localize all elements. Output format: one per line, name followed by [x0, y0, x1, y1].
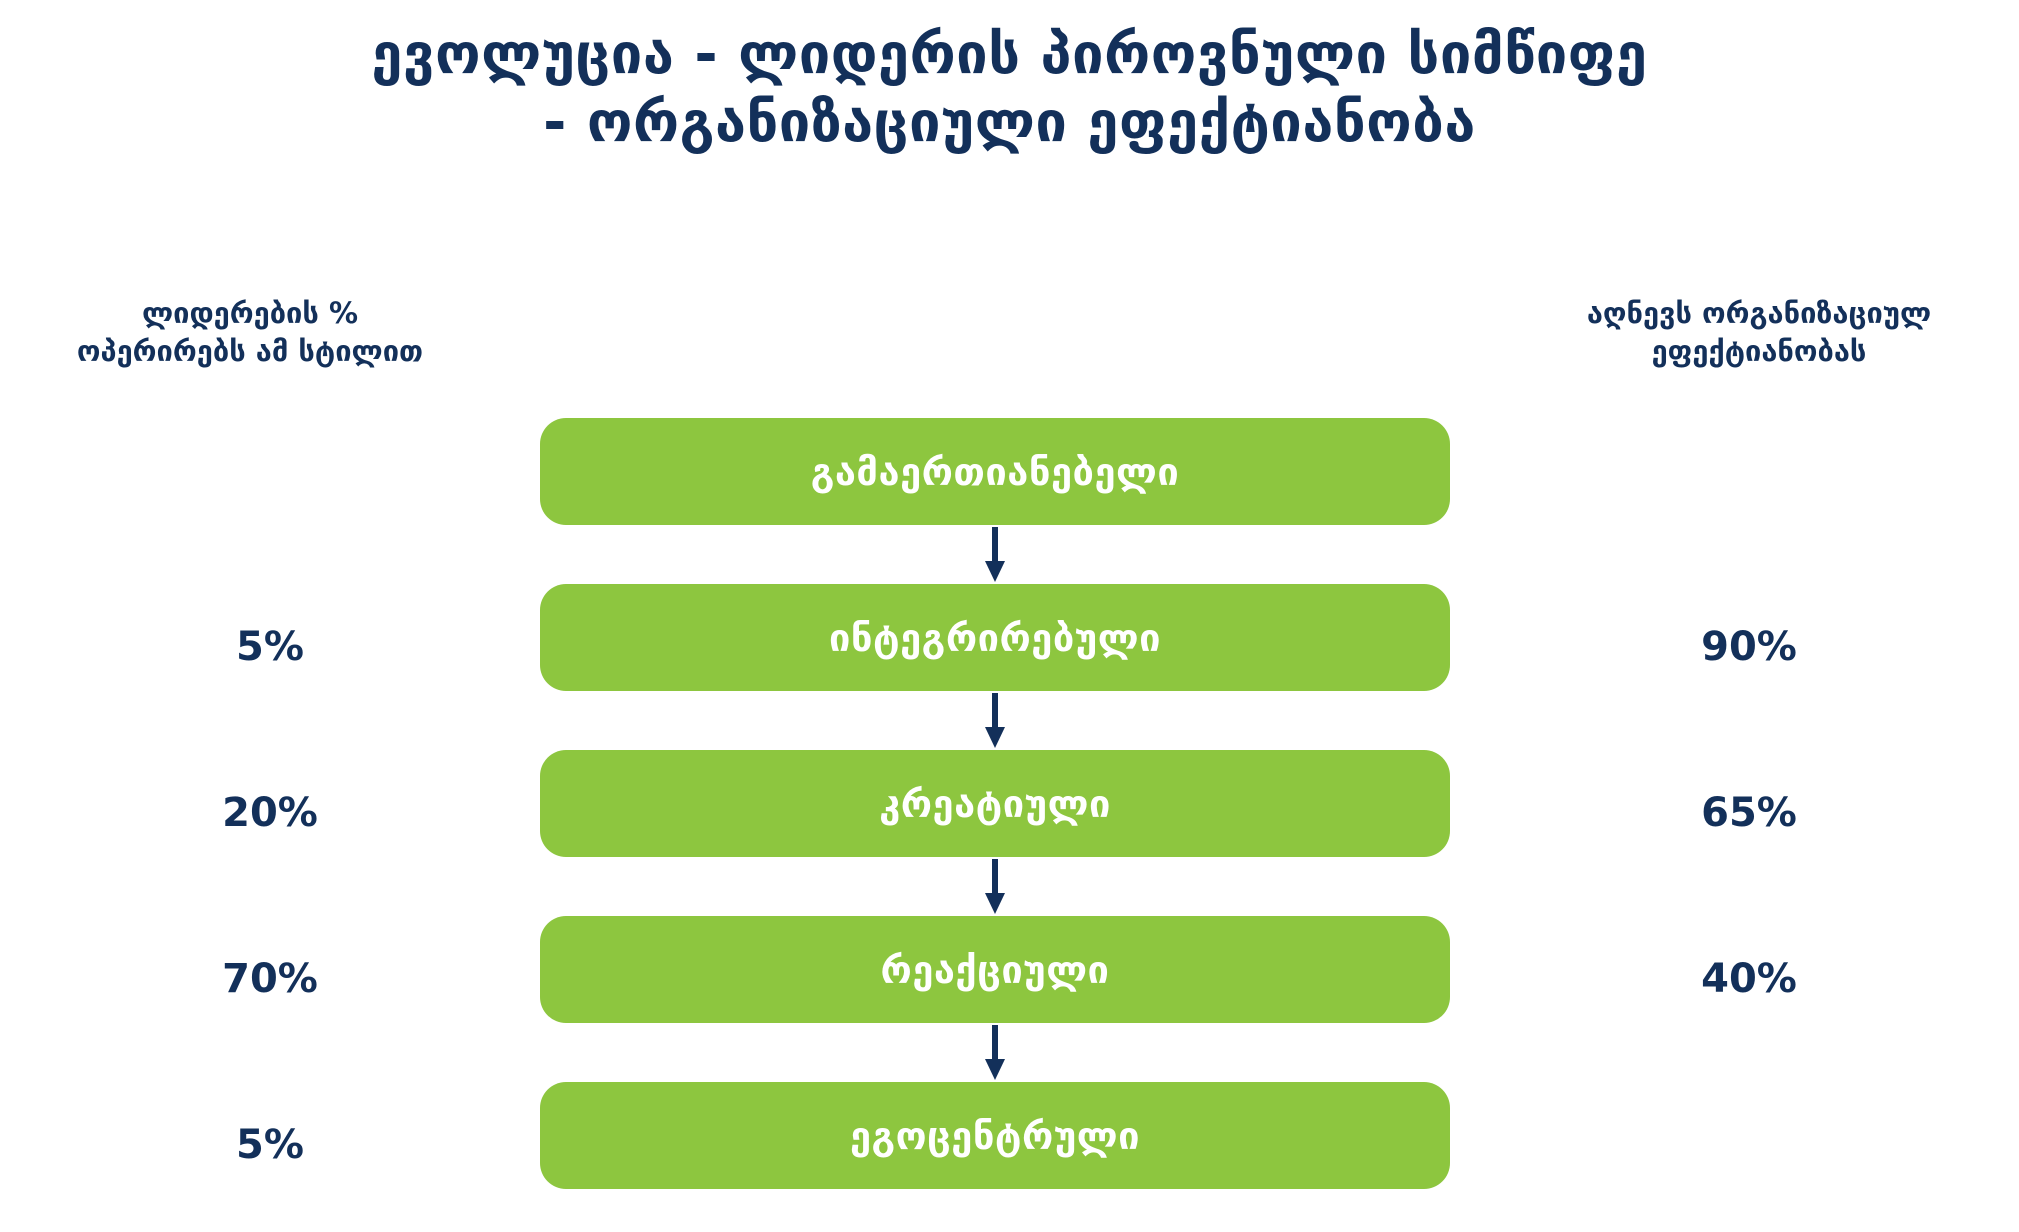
flow-arrow-4	[540, 1023, 1450, 1082]
flow-node-label: გამაერთიანებელი	[811, 453, 1180, 491]
flow-node-egocentric[interactable]: ეგოცენტრული	[540, 1082, 1450, 1189]
right-column-header: აღნევს ორგანიზაციულ ეფექტიანობას	[1519, 294, 1999, 371]
arrow-down-icon	[982, 691, 1008, 750]
page-title-line-1: ევოლუცია - ლიდერის პიროვნული სიმწიფე	[0, 22, 2019, 88]
arrow-down-icon	[982, 857, 1008, 916]
arrow-down-icon	[982, 525, 1008, 584]
arrow-down-icon	[982, 1023, 1008, 1082]
left-percent-egocentric: 5%	[110, 1125, 430, 1165]
flow-node-integrated[interactable]: ინტეგრირებული	[540, 584, 1450, 691]
left-percent-integrated: 5%	[110, 627, 430, 667]
left-percent-reactive: 70%	[110, 959, 430, 999]
flow-node-label: კრეატიული	[879, 785, 1111, 823]
flow-row: ეგოცენტრული	[540, 1082, 1450, 1189]
flow-node-label: რეაქციული	[881, 951, 1110, 989]
flow-row: კრეატიული	[540, 750, 1450, 857]
left-column-header-line-1: ლიდერების %	[20, 294, 480, 332]
left-column-header-line-2: ოპერირებს ამ სტილით	[20, 332, 480, 370]
left-column-header: ლიდერების % ოპერირებს ამ სტილით	[20, 294, 480, 371]
left-percent-creative: 20%	[110, 793, 430, 833]
flow-node-unifying[interactable]: გამაერთიანებელი	[540, 418, 1450, 525]
right-column-header-line-2: ეფექტიანობას	[1519, 332, 1999, 370]
page-title: ევოლუცია - ლიდერის პიროვნული სიმწიფე - ო…	[0, 22, 2019, 156]
flow-node-label: ეგოცენტრული	[850, 1117, 1140, 1155]
right-column-header-line-1: აღნევს ორგანიზაციულ	[1519, 294, 1999, 332]
flow-node-creative[interactable]: კრეატიული	[540, 750, 1450, 857]
flow-row: გამაერთიანებელი	[540, 418, 1450, 525]
right-percent-integrated: 90%	[1589, 627, 1909, 667]
flow-row: რეაქციული	[540, 916, 1450, 1023]
slide-canvas: ევოლუცია - ლიდერის პიროვნული სიმწიფე - ო…	[0, 0, 2019, 1232]
page-title-line-2: - ორგანიზაციული ეფექტიანობა	[0, 90, 2019, 156]
evolution-flow: გამაერთიანებელი ინტეგრირებული კრეატიული	[540, 418, 1450, 1189]
right-percent-creative: 65%	[1589, 793, 1909, 833]
flow-row: ინტეგრირებული	[540, 584, 1450, 691]
flow-arrow-1	[540, 525, 1450, 584]
flow-node-reactive[interactable]: რეაქციული	[540, 916, 1450, 1023]
right-percent-reactive: 40%	[1589, 959, 1909, 999]
flow-node-label: ინტეგრირებული	[829, 619, 1161, 657]
flow-arrow-2	[540, 691, 1450, 750]
flow-arrow-3	[540, 857, 1450, 916]
